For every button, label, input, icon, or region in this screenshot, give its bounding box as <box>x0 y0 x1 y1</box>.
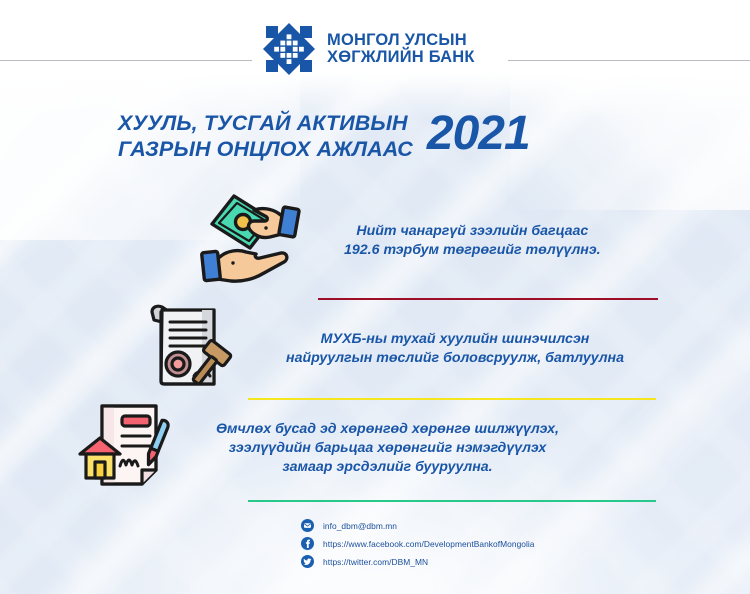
page-title: ХУУЛЬ, ТУСГАЙ АКТИВЫН ГАЗРЫН ОНЦЛОХ АЖЛА… <box>118 110 530 162</box>
envelope-icon <box>301 519 314 532</box>
highlight-item-text: МУХБ-ны тухай хуулийн шинэчилсэн найруул… <box>286 330 624 367</box>
contact-line-twitter[interactable]: https://twitter.com/DBM_MN <box>301 555 535 568</box>
twitter-icon <box>301 555 314 568</box>
highlight-item: Нийт чанаргүй зээлийн багцаас 192.6 тэрб… <box>198 190 601 291</box>
contact-twitter-text: https://twitter.com/DBM_MN <box>323 557 428 567</box>
highlight-item-text: Өмчлөх бусад эд хөрөнгөд хөрөнгө шилжүүл… <box>216 420 559 476</box>
contact-line-email[interactable]: info_dbm@dbm.mn <box>301 519 535 532</box>
item-divider-green <box>248 500 656 502</box>
facebook-icon <box>301 537 314 550</box>
highlight-item: Өмчлөх бусад эд хөрөнгөд хөрөнгө шилжүүл… <box>76 398 559 499</box>
legal-scroll-gavel-icon <box>142 300 238 397</box>
highlight-item: МУХБ-ны тухай хуулийн шинэчилсэн найруул… <box>142 300 624 397</box>
highlight-item-text: Нийт чанаргүй зээлийн багцаас 192.6 тэрб… <box>344 222 601 259</box>
infographic-poster: МОНГОЛ УЛСЫН ХӨГЖЛИЙН БАНК ХУУЛЬ, ТУСГАЙ… <box>0 0 750 594</box>
footer-contacts: info_dbm@dbm.mn https://www.facebook.com… <box>301 519 535 568</box>
contact-line-facebook[interactable]: https://www.facebook.com/DevelopmentBank… <box>301 537 535 550</box>
brand-logo: МОНГОЛ УЛСЫН ХӨГЖЛИЙН БАНК <box>262 22 475 76</box>
contact-email-text: info_dbm@dbm.mn <box>323 521 397 531</box>
contact-facebook-text: https://www.facebook.com/DevelopmentBank… <box>323 539 535 549</box>
page-title-text: ХУУЛЬ, ТУСГАЙ АКТИВЫН ГАЗРЫН ОНЦЛОХ АЖЛА… <box>118 110 413 162</box>
dbm-endless-knot-diamond-logo-icon <box>262 22 316 76</box>
property-contract-signing-icon <box>76 398 180 499</box>
page-title-year: 2021 <box>427 110 530 158</box>
brand-logo-text: МОНГОЛ УЛСЫН ХӨГЖЛИЙН БАНК <box>327 32 475 66</box>
hands-exchanging-money-icon <box>198 190 302 291</box>
